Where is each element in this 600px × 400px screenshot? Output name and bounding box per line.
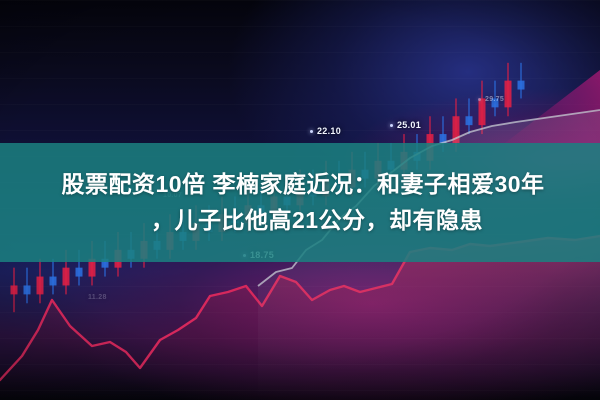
price-label: 29.75 xyxy=(478,96,504,103)
price-label-value: 22.10 xyxy=(317,126,341,136)
price-label-value: 29.75 xyxy=(485,96,504,103)
screenshot-root: 22.1025.0129.7518.7510.0711.28 股票配资10倍 李… xyxy=(0,0,600,400)
price-label-dot-icon xyxy=(310,130,313,133)
price-label: 11.28 xyxy=(88,294,107,301)
headline-banner: 股票配资10倍 李楠家庭近况：和妻子相爱30年 ，儿子比他高21公分，却有隐患 xyxy=(0,143,600,262)
price-label: 25.01 xyxy=(390,120,421,130)
headline-line-2: ，儿子比他高21公分，却有隐患 xyxy=(0,206,600,235)
price-label: 22.10 xyxy=(310,126,341,136)
price-label-dot-icon xyxy=(390,124,393,127)
price-label-value: 25.01 xyxy=(397,120,421,130)
price-label-dot-icon xyxy=(478,98,481,101)
price-label-value: 11.28 xyxy=(88,294,107,301)
headline-line-1: 股票配资10倍 李楠家庭近况：和妻子相爱30年 xyxy=(0,170,600,199)
